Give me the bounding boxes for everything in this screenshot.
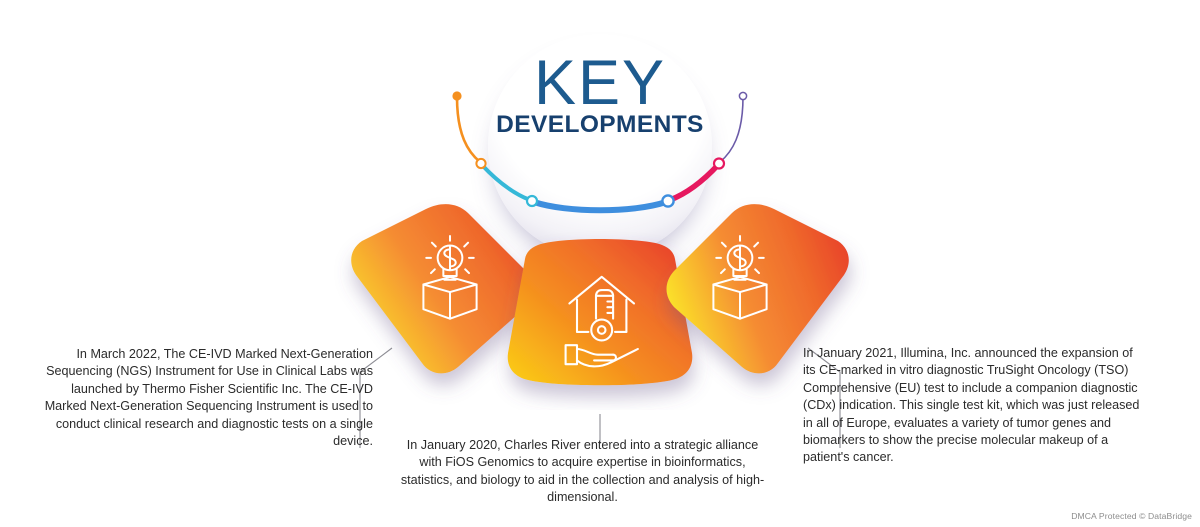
arc-segment-purple — [720, 97, 743, 162]
arc-node-orange-cyan — [476, 159, 485, 168]
arc-node-pink-purple — [714, 159, 724, 169]
dmca-watermark: DMCA Protected © DataBridge — [1071, 511, 1192, 521]
arc-segment-orange — [457, 97, 480, 162]
blurb-center: In January 2020, Charles River entered i… — [400, 437, 765, 507]
infographic-canvas: KEY DEVELOPMENTS — [0, 0, 1200, 527]
arc-node-orange-end — [452, 91, 461, 100]
blurb-left: In March 2022, The CE-IVD Marked Next-Ge… — [28, 346, 373, 450]
blurb-right: In January 2021, Illumina, Inc. announce… — [803, 345, 1143, 467]
arc-node-purple-end — [739, 92, 746, 99]
